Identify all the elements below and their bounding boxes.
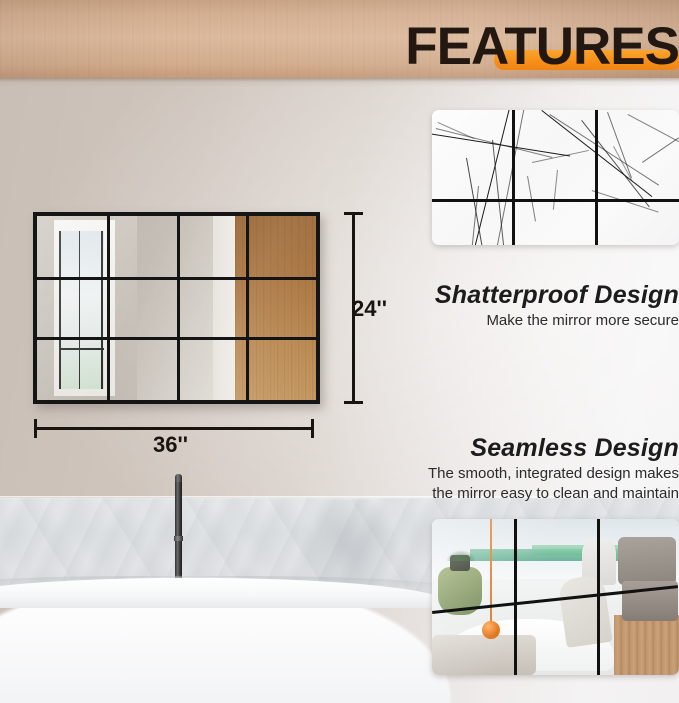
page-title: FEATURES <box>386 16 679 78</box>
mirror-product <box>33 212 320 404</box>
shatterproof-image-card <box>432 110 679 245</box>
faucet-collar <box>174 536 183 541</box>
seamless-body: The smooth, integrated design makes the … <box>379 464 679 504</box>
mirror-grid-line-vertical <box>107 216 110 400</box>
seamless-body-line-1: The smooth, integrated design makes <box>379 464 679 484</box>
shatterproof-heading: Shatterproof Design <box>379 281 679 310</box>
width-dimension-cap-left <box>34 419 37 438</box>
width-dimension-line <box>35 427 314 430</box>
mirror-grid-line-vertical <box>595 110 598 245</box>
infographic-canvas: FEATURES Shatterproof Design Make the mi… <box>0 0 679 703</box>
mirror-reflection <box>37 216 316 400</box>
mirror-grid-line-vertical <box>512 110 515 245</box>
width-dimension-label: 36'' <box>153 432 188 458</box>
shatterproof-body: Make the mirror more secure <box>379 311 679 331</box>
seamless-heading: Seamless Design <box>379 434 679 463</box>
mirror-grid-line-vertical <box>246 216 249 400</box>
ceiling-shadow <box>0 78 679 87</box>
mirror-grid-line-horizontal <box>432 199 679 202</box>
height-dimension-cap-top <box>344 212 363 215</box>
page-title-block: FEATURES <box>386 16 679 78</box>
seamless-body-line-2: the mirror easy to clean and maintain <box>379 484 679 504</box>
mirror-grid-line-vertical <box>514 519 517 675</box>
height-dimension-label: 24'' <box>352 296 387 322</box>
width-dimension-cap-right <box>311 419 314 438</box>
seamless-image-card <box>432 519 679 675</box>
mirror-grid-line-vertical <box>177 216 180 400</box>
mirror-grid-line-vertical <box>597 519 600 675</box>
height-dimension-cap-bottom <box>344 401 363 404</box>
faucet-spout-icon <box>175 474 182 482</box>
